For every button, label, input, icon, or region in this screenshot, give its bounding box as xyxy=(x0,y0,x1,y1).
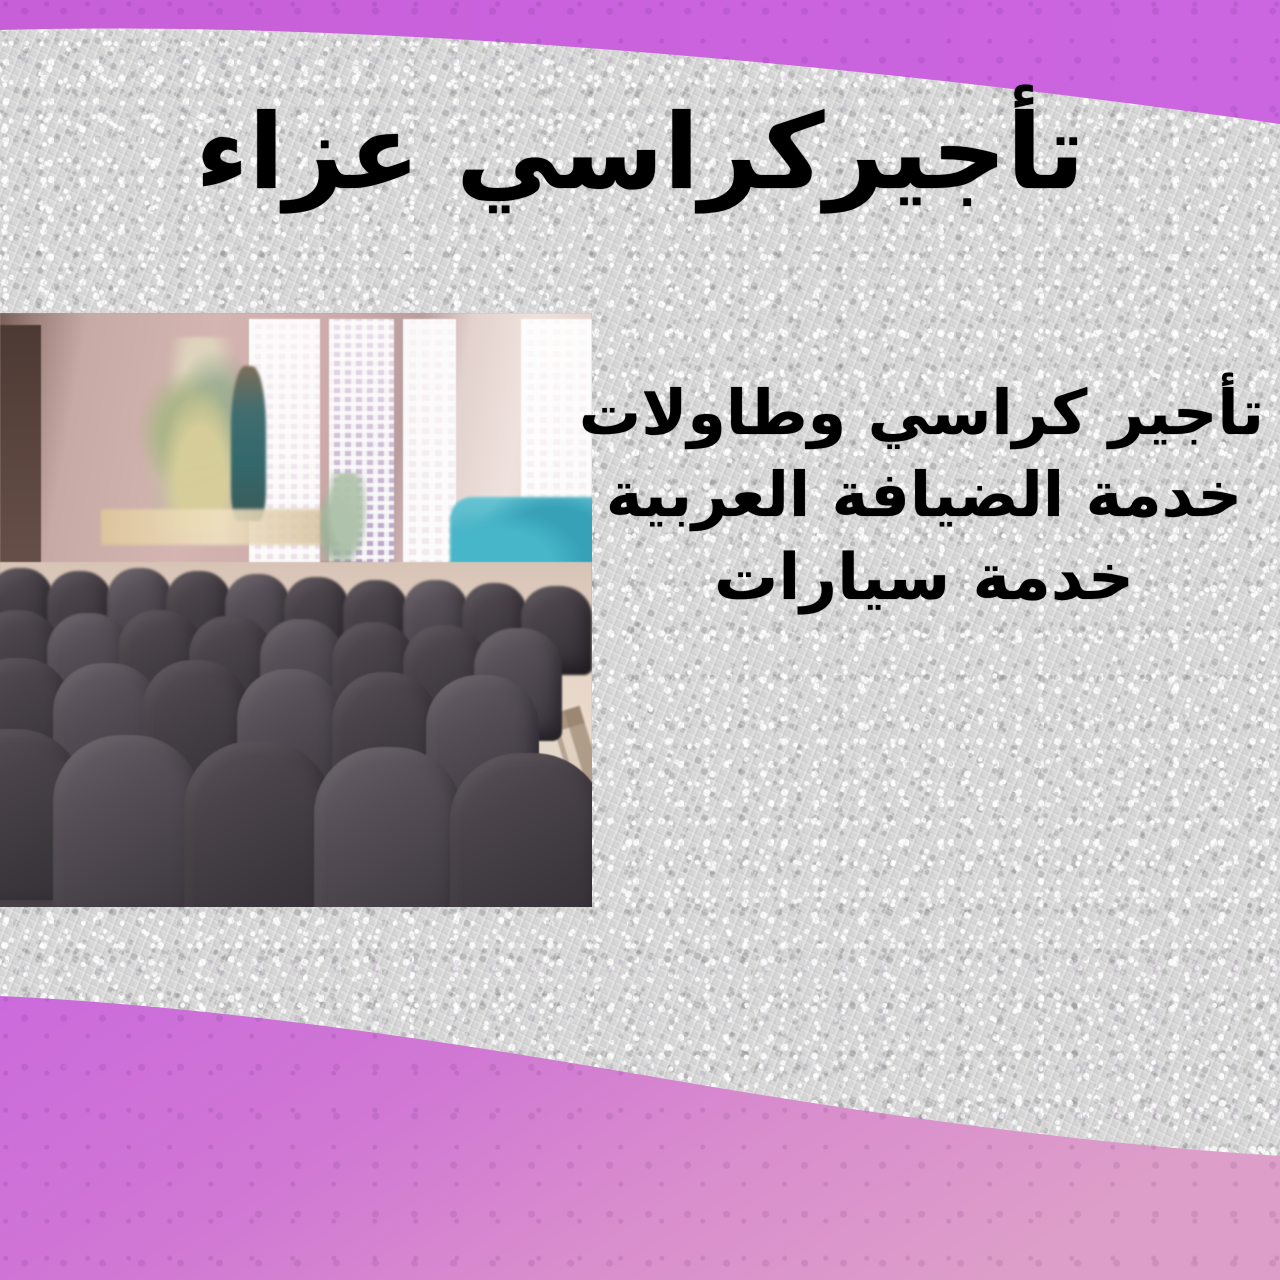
table-runner xyxy=(101,509,338,545)
chair xyxy=(184,741,332,907)
service-line-hospitality: خدمة الضيافة العربية xyxy=(584,454,1264,536)
bottom-band-shape xyxy=(0,996,1280,1280)
chair xyxy=(450,753,592,907)
chair-rental-photo xyxy=(0,313,592,907)
service-line-chairs-tables: تأجير كراسي وطاولات xyxy=(584,372,1264,454)
decor-figure xyxy=(231,366,267,520)
service-line-car-service: خدمة سيارات xyxy=(584,536,1264,620)
bottom-purple-band xyxy=(0,954,1280,1280)
services-text-block: تأجير كراسي وطاولات خدمة الضيافة العربية… xyxy=(584,372,1264,620)
poster-canvas: تأجيركراسي عزاء xyxy=(0,0,1280,1280)
chair xyxy=(53,735,201,907)
chair xyxy=(314,747,462,907)
mashrabiya-screen xyxy=(403,319,456,604)
doorway xyxy=(0,325,41,586)
page-title: تأجيركراسي عزاء xyxy=(0,96,1280,208)
potted-plant xyxy=(320,473,373,574)
photo-content xyxy=(0,313,592,907)
